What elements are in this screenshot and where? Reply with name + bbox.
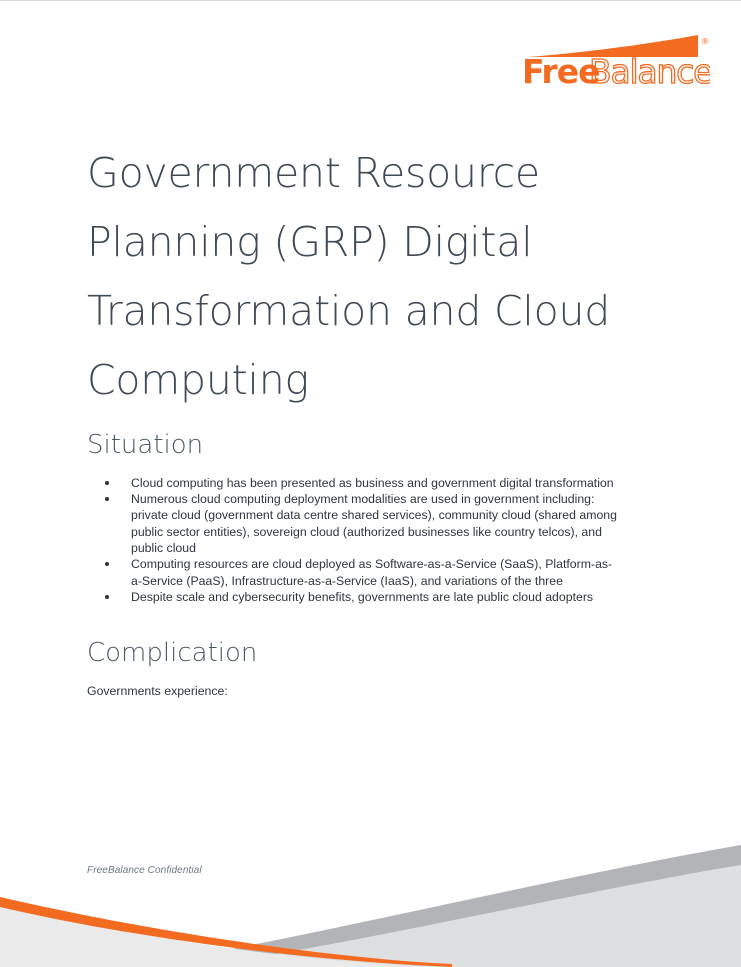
logo-word-balance: Balance bbox=[589, 52, 710, 87]
list-item: Computing resources are cloud deployed a… bbox=[87, 556, 617, 589]
list-item-text: Cloud computing has been presented as bu… bbox=[131, 476, 614, 490]
footer-orange-swoosh bbox=[0, 897, 452, 967]
logo-svg: ® Free Balance bbox=[520, 35, 710, 87]
section-heading-complication: Complication bbox=[87, 639, 617, 669]
list-item: Cloud computing has been presented as bu… bbox=[87, 475, 617, 491]
complication-paragraph: Governments experience: bbox=[87, 683, 617, 699]
footer-gray-fill bbox=[190, 865, 741, 967]
footer-gray-band bbox=[170, 845, 741, 967]
list-item-text: Computing resources are cloud deployed a… bbox=[131, 557, 612, 587]
list-item: Despite scale and cybersecurity benefits… bbox=[87, 589, 617, 605]
footer-left-light-fill bbox=[0, 905, 440, 967]
page-title: Government Resource Planning (GRP) Digit… bbox=[87, 139, 617, 415]
freebalance-logo: ® Free Balance bbox=[520, 35, 710, 87]
section-heading-situation: Situation bbox=[87, 431, 617, 461]
document-page: ® Free Balance Government Resource Plann… bbox=[0, 0, 741, 967]
logo-word-free: Free bbox=[522, 52, 599, 87]
list-item-text: Despite scale and cybersecurity benefits… bbox=[131, 590, 593, 604]
footer-decoration bbox=[0, 827, 741, 967]
list-item: Numerous cloud computing deployment moda… bbox=[87, 491, 617, 556]
list-item-text: Numerous cloud computing deployment moda… bbox=[131, 492, 617, 555]
situation-bullet-list: Cloud computing has been presented as bu… bbox=[87, 475, 617, 605]
confidential-footer-note: FreeBalance Confidential bbox=[87, 865, 202, 876]
registered-mark-icon: ® bbox=[701, 37, 709, 46]
document-content: Government Resource Planning (GRP) Digit… bbox=[87, 139, 617, 699]
